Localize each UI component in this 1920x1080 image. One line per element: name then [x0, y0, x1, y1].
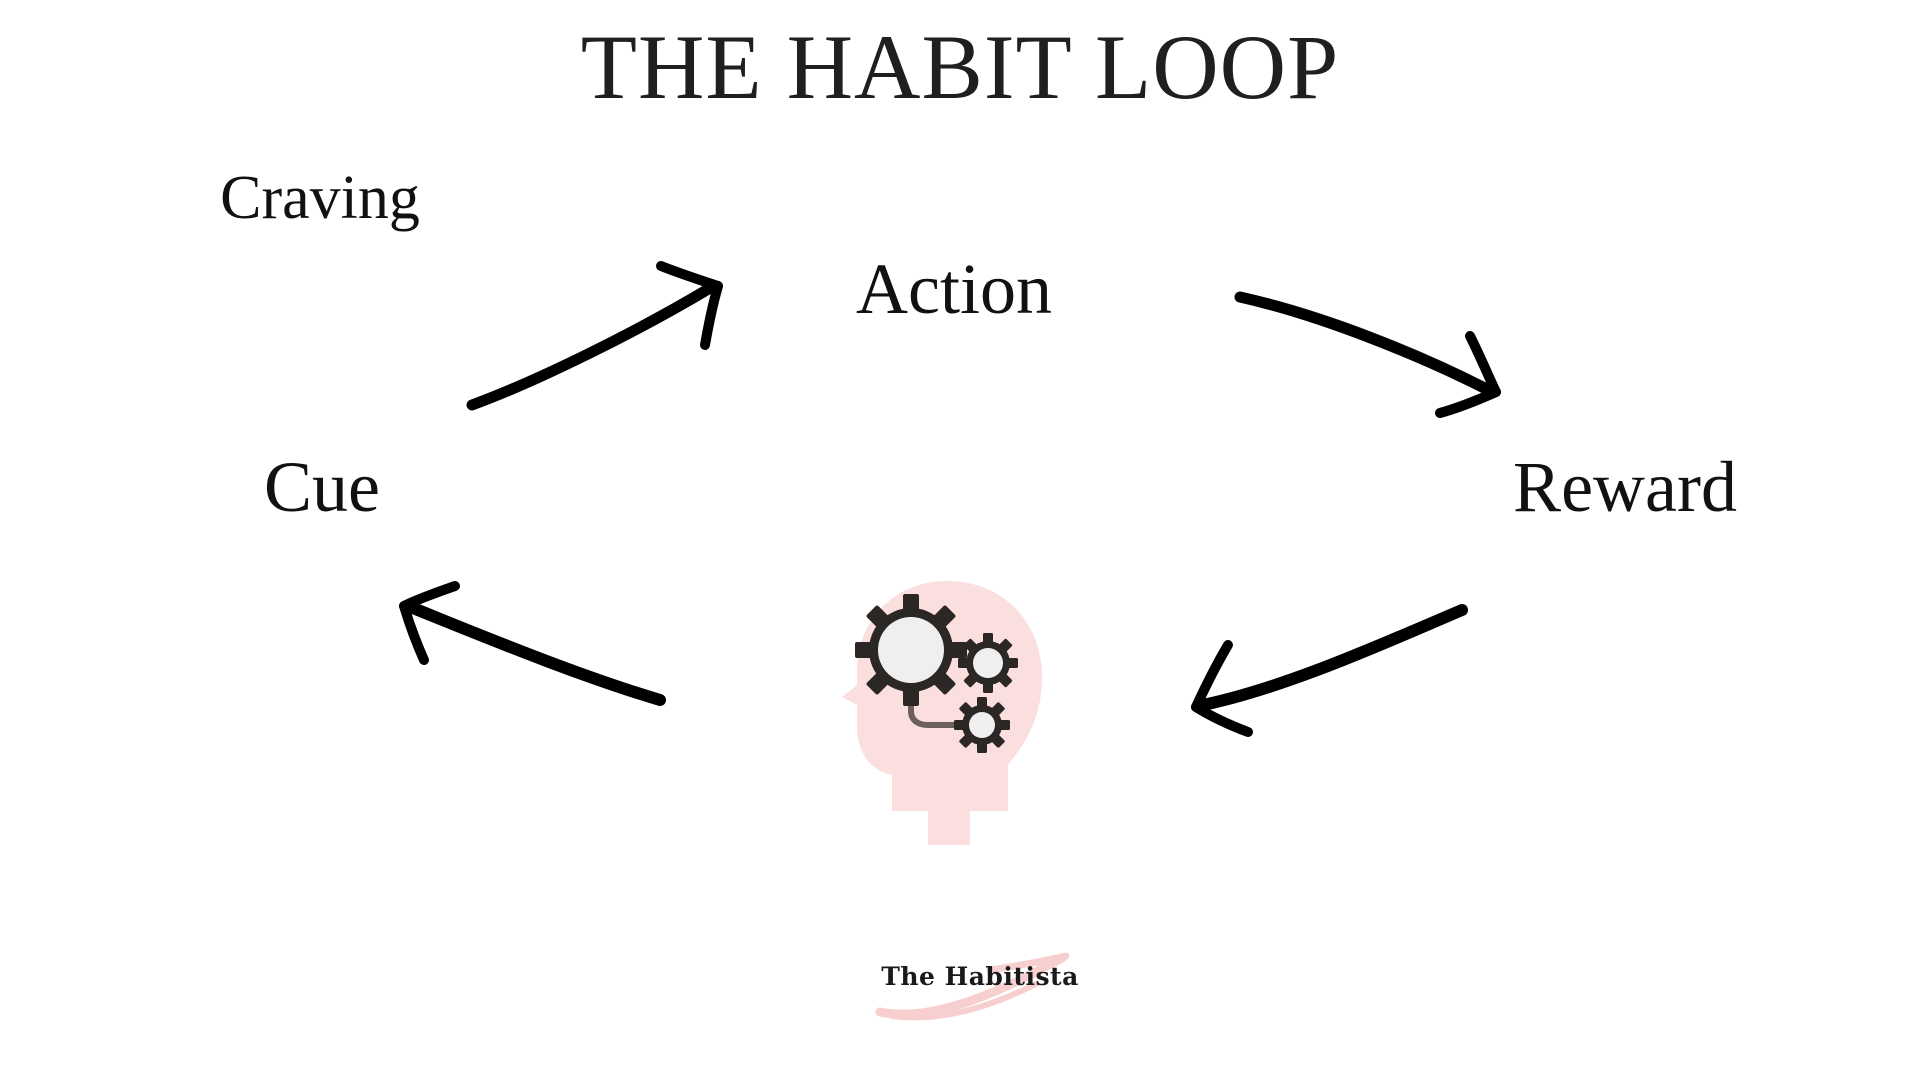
node-label-craving: Craving — [220, 167, 420, 229]
gear-small-lower-icon — [954, 697, 1010, 753]
arrow-center-to-cue — [404, 586, 660, 702]
gear-large-icon — [855, 594, 967, 706]
gear-small-upper-icon — [958, 633, 1018, 693]
brand-logo: The Habitista — [870, 950, 1090, 1030]
arrow-action-to-reward — [1240, 295, 1496, 413]
node-label-reward: Reward — [1513, 451, 1737, 523]
node-label-action: Action — [856, 253, 1052, 325]
habit-loop-diagram: THE HABIT LOOP — [0, 0, 1920, 1080]
page-title: THE HABIT LOOP — [0, 14, 1920, 120]
arrow-cue-to-craving — [470, 266, 718, 406]
brand-name: The Habitista — [870, 962, 1090, 991]
node-label-cue: Cue — [264, 451, 380, 523]
arrow-layer — [0, 0, 1920, 1080]
arrow-reward-to-center — [1196, 610, 1464, 732]
head-with-gears-icon — [810, 575, 1070, 875]
